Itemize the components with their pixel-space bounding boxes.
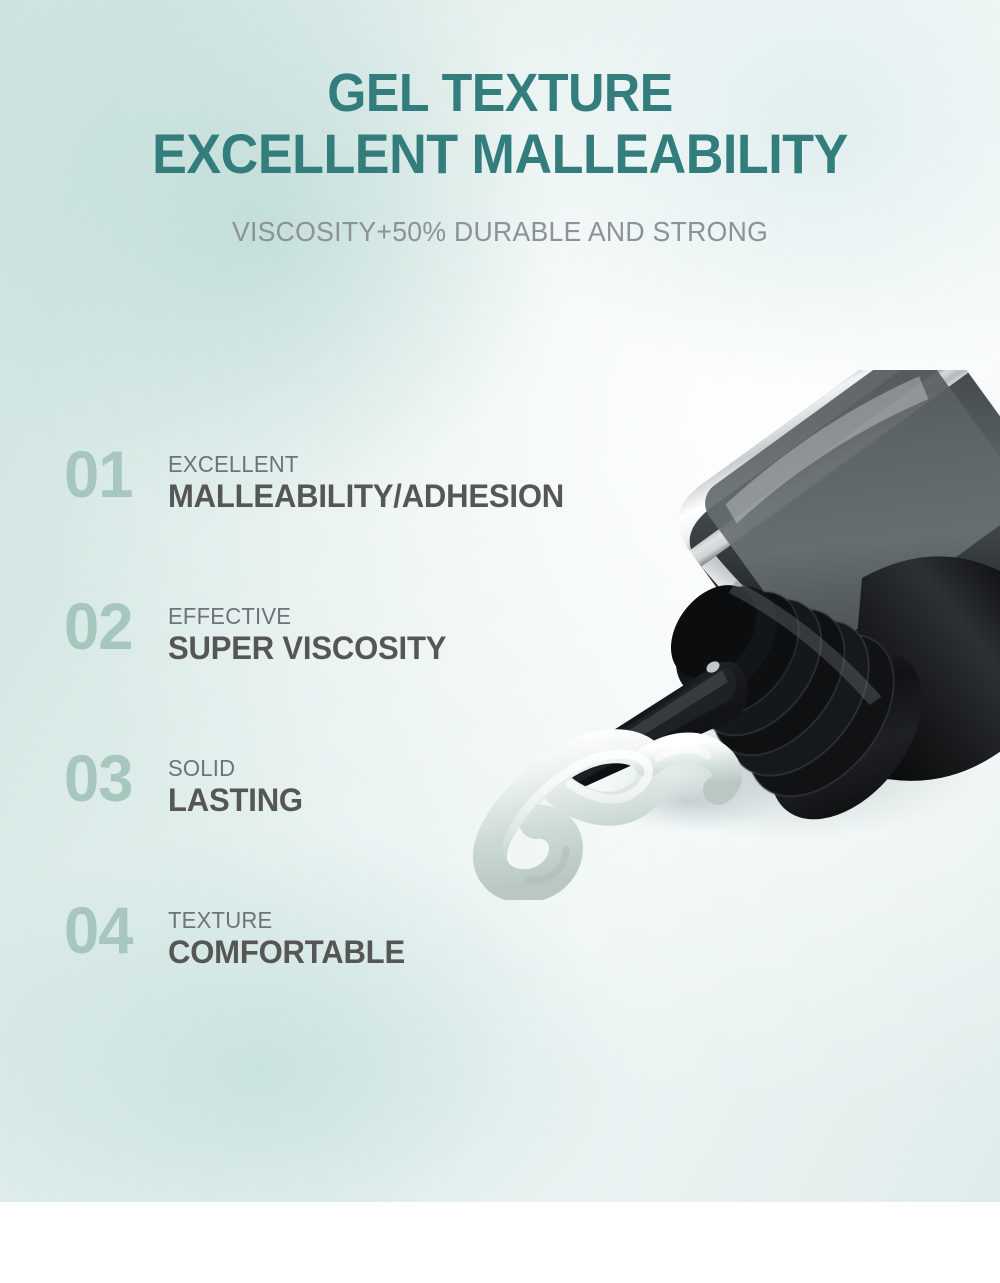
feature-big-label-02: SUPER VISCOSITY bbox=[168, 631, 446, 666]
feature-text-02: EFFECTIVE SUPER VISCOSITY bbox=[168, 595, 455, 666]
feature-text-03: SOLID LASTING bbox=[168, 747, 307, 818]
feature-number-04: 04 bbox=[64, 899, 164, 962]
feature-big-label-04: COMFORTABLE bbox=[168, 935, 405, 970]
feature-small-label-01: EXCELLENT bbox=[168, 452, 560, 477]
product-feature-banner: GEL TEXTURE EXCELLENT MALLEABILITY VISCO… bbox=[0, 0, 1000, 1283]
feature-item-03: 03 SOLID LASTING bbox=[64, 747, 784, 899]
feature-big-label-01: MALLEABILITY/ADHESION bbox=[168, 479, 564, 514]
feature-number-01: 01 bbox=[64, 443, 164, 506]
feature-small-label-03: SOLID bbox=[168, 756, 301, 781]
feature-item-01: 01 EXCELLENT MALLEABILITY/ADHESION bbox=[64, 443, 784, 595]
headline-block: GEL TEXTURE EXCELLENT MALLEABILITY bbox=[0, 66, 1000, 182]
feature-number-03: 03 bbox=[64, 747, 164, 810]
feature-big-label-03: LASTING bbox=[168, 783, 303, 818]
feature-number-02: 02 bbox=[64, 595, 164, 658]
subheadline: VISCOSITY+50% DURABLE AND STRONG bbox=[25, 216, 975, 248]
background-tint-top-right bbox=[500, 0, 1000, 400]
headline-line-2: EXCELLENT MALLEABILITY bbox=[35, 125, 965, 182]
headline-line-1: GEL TEXTURE bbox=[35, 66, 965, 121]
feature-small-label-04: TEXTURE bbox=[168, 908, 403, 933]
feature-item-02: 02 EFFECTIVE SUPER VISCOSITY bbox=[64, 595, 784, 747]
feature-list: 01 EXCELLENT MALLEABILITY/ADHESION 02 EF… bbox=[64, 443, 784, 1051]
feature-text-01: EXCELLENT MALLEABILITY/ADHESION bbox=[168, 443, 576, 514]
feature-text-04: TEXTURE COMFORTABLE bbox=[168, 899, 412, 970]
feature-item-04: 04 TEXTURE COMFORTABLE bbox=[64, 899, 784, 1051]
feature-small-label-02: EFFECTIVE bbox=[168, 604, 443, 629]
footer-white-strip bbox=[0, 1202, 1000, 1283]
